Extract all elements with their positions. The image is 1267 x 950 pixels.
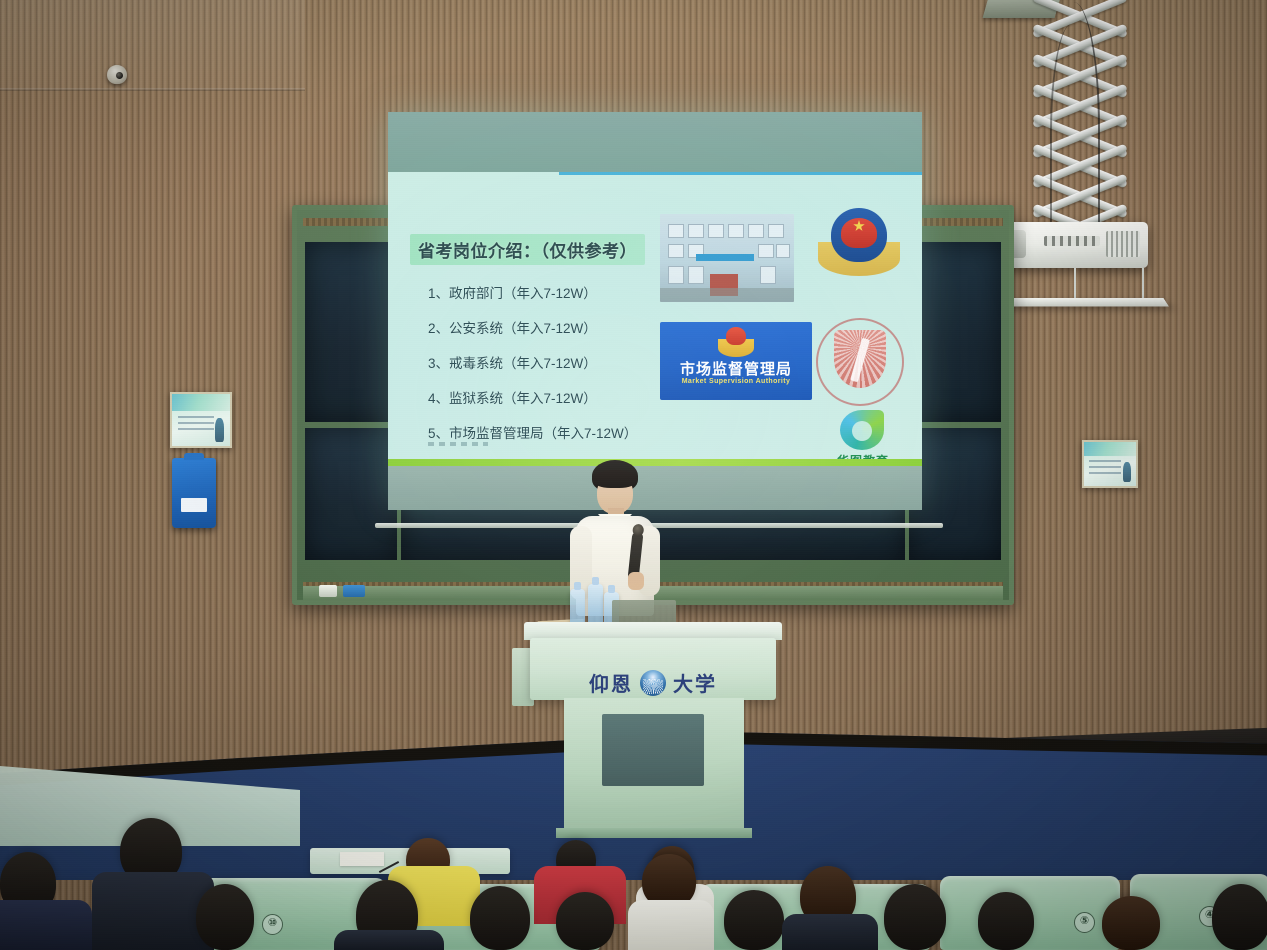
screen-top-band — [388, 112, 922, 172]
podium-base — [556, 828, 752, 838]
msa-emblem-icon — [718, 327, 754, 357]
ceiling-panel — [0, 0, 305, 90]
projector-vent — [1106, 231, 1140, 257]
slide-bullet-item: 3、戒毒系统（年入7-12W） — [428, 352, 688, 372]
audience-torso — [782, 914, 878, 950]
brand-logo-huatu: 华图教育 huatu education — [824, 410, 902, 466]
desk-paper — [340, 852, 384, 866]
wall-camera-icon — [107, 65, 127, 84]
audience-head — [556, 892, 614, 950]
audience-head — [196, 884, 254, 950]
podium-university-branding: 仰恩 大学 — [530, 668, 776, 697]
projector-shelf — [987, 298, 1169, 306]
podium-front-panel: 仰恩 大学 — [530, 638, 776, 700]
blackboard-panel-right-bottom — [909, 428, 1001, 560]
slide-bullet-list: 1、政府部门（年入7-12W） 2、公安系统（年入7-12W） 3、戒毒系统（年… — [428, 282, 688, 466]
audience-head — [884, 884, 946, 950]
chalk-eraser-white — [319, 585, 337, 597]
university-name-right: 大学 — [673, 668, 717, 697]
seat-number-badge: ⑤ — [1074, 912, 1095, 933]
building-forecourt — [660, 288, 794, 302]
poster-header-band — [172, 394, 230, 411]
poster-figure — [1123, 462, 1131, 482]
sign-label-plate — [181, 498, 207, 512]
slide-top-rule — [559, 172, 922, 175]
poster-figure — [215, 418, 224, 442]
projector-ports — [1044, 236, 1100, 246]
wall-poster-right — [1082, 440, 1138, 488]
building-canopy — [696, 254, 754, 261]
police-emblem-icon — [818, 204, 900, 284]
slide-bullet-item: 5、市场监督管理局（年入7-12W） — [428, 422, 688, 442]
poster-header-band — [1084, 442, 1136, 456]
discipline-inspection-emblem-icon — [816, 318, 904, 406]
audience-head — [1102, 896, 1160, 950]
podium-recess-panel — [602, 714, 704, 786]
speaker-fringe — [593, 470, 637, 488]
blackboard-panel-left-top — [305, 242, 397, 422]
audience-head — [1212, 884, 1267, 950]
audience-head — [470, 886, 530, 950]
msa-logo-en: Market Supervision Authority — [660, 378, 812, 385]
lecture-hall-photo: 省考岗位介绍：（仅供参考） 1、政府部门（年入7-12W） 2、公安系统（年入7… — [0, 0, 1267, 950]
chalk-eraser-blue — [343, 585, 365, 597]
msa-logo-cn: 市场监督管理局 — [660, 358, 812, 379]
projection-screen: 省考岗位介绍：（仅供参考） 1、政府部门（年入7-12W） 2、公安系统（年入7… — [388, 112, 922, 510]
slide-trailing-marks — [428, 442, 488, 446]
university-name-left: 仰恩 — [589, 668, 633, 697]
university-seal-icon — [640, 670, 666, 696]
audience-torso — [628, 900, 714, 950]
speaker-hand — [628, 572, 644, 590]
wall-ceiling-seam — [0, 88, 305, 91]
poster-text-lines — [178, 416, 214, 434]
audience-torso — [334, 930, 444, 950]
audience-head — [724, 890, 784, 950]
blue-wall-sign — [172, 458, 216, 528]
huatu-mark-icon — [840, 410, 884, 450]
audience-torso — [0, 900, 92, 950]
market-supervision-authority-logo: 市场监督管理局 Market Supervision Authority — [660, 322, 812, 400]
slide-bullet-item: 1、政府部门（年入7-12W） — [428, 282, 688, 302]
blackboard-panel-left-bottom — [305, 428, 397, 560]
presentation-slide: 省考岗位介绍：（仅供参考） 1、政府部门（年入7-12W） 2、公安系统（年入7… — [388, 172, 922, 466]
poster-text-lines — [1089, 460, 1121, 475]
slide-bullet-item: 4、监狱系统（年入7-12W） — [428, 387, 688, 407]
ceiling-projector — [1008, 222, 1148, 268]
lectern-podium: 仰恩 大学 — [524, 622, 782, 837]
seat-number-badge: ⑩ — [262, 914, 283, 935]
audience-head — [978, 892, 1034, 950]
slide-bullet-item: 2、公安系统（年入7-12W） — [428, 317, 688, 337]
wall-poster-left — [170, 392, 232, 448]
government-building-photo — [660, 214, 794, 302]
blackboard-panel-right-top — [909, 242, 1001, 422]
projector-lift-assembly — [1000, 0, 1160, 324]
slide-title: 省考岗位介绍：（仅供参考） — [410, 234, 645, 265]
